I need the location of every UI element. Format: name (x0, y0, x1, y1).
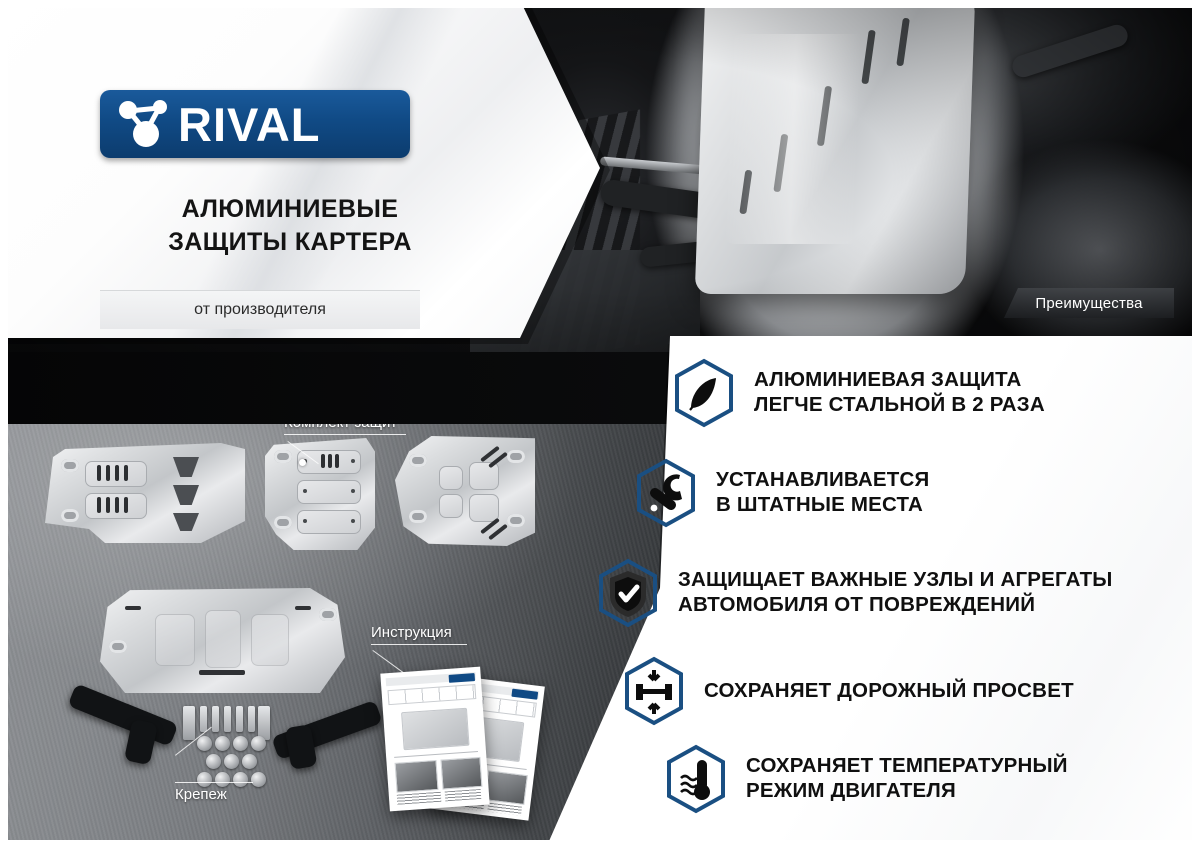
rival-logo[interactable]: RIVAL (100, 90, 410, 158)
feature-item-install[interactable]: УСТАНАВЛИВАЕТСЯ В ШТАТНЫЕ МЕСТА (634, 458, 1174, 528)
skid-plate-3 (395, 436, 535, 546)
washer (197, 736, 212, 751)
washer (251, 736, 266, 751)
callout-instruction: Инструкция (371, 624, 467, 645)
feature-label: СОХРАНЯЕТ ДОРОЖНЫЙ ПРОСВЕТ (704, 679, 1074, 704)
logo-wordmark: RIVAL (178, 101, 321, 148)
bolt (248, 706, 255, 732)
ground-clearance-icon (622, 656, 686, 726)
bolt (236, 706, 243, 732)
shield-check-icon (596, 558, 660, 628)
feature-label: ЗАЩИЩАЕТ ВАЖНЫЕ УЗЛЫ И АГРЕГАТЫ АВТОМОБИ… (678, 568, 1113, 617)
feature-list: АЛЮМИНИЕВАЯ ЗАЩИТА ЛЕГЧЕ СТАЛЬНОЙ В 2 РА… (536, 336, 1200, 848)
tagline-bar: от производителя (100, 290, 420, 329)
washer (251, 772, 266, 787)
instruction-sheet-front (380, 667, 489, 812)
thermometer-icon (664, 744, 728, 814)
feature-label: АЛЮМИНИЕВАЯ ЗАЩИТА ЛЕГЧЕ СТАЛЬНОЙ В 2 РА… (754, 368, 1045, 417)
washer (215, 736, 230, 751)
feature-item-temperature[interactable]: СОХРАНЯЕТ ТЕМПЕРАТУРНЫЙ РЕЖИМ ДВИГАТЕЛЯ (664, 744, 1184, 814)
callout-instruction-label: Инструкция (371, 624, 452, 641)
bolt (200, 706, 207, 732)
feature-item-clearance[interactable]: СОХРАНЯЕТ ДОРОЖНЫЙ ПРОСВЕТ (622, 656, 1182, 726)
washer (224, 754, 239, 769)
advantages-tab-label: Преимущества (1035, 295, 1142, 312)
feature-label: СОХРАНЯЕТ ТЕМПЕРАТУРНЫЙ РЕЖИМ ДВИГАТЕЛЯ (746, 754, 1068, 803)
skid-plate-main (95, 588, 345, 693)
callout-kit-dot (299, 459, 306, 466)
feature-label: УСТАНАВЛИВАЕТСЯ В ШТАТНЫЕ МЕСТА (716, 468, 929, 517)
leaf-icon (672, 358, 736, 428)
washer (242, 754, 257, 769)
skid-plate-2 (265, 438, 375, 550)
advantages-tab[interactable]: Преимущества (1004, 288, 1174, 318)
bolt (212, 706, 219, 732)
washer (233, 736, 248, 751)
molecule-icon (112, 96, 176, 152)
rival-promo-banner: RIVAL АЛЮМИНИЕВЫЕ ЗАЩИТЫ КАРТЕРА от прои… (0, 0, 1200, 848)
fastener-strip-right (258, 706, 270, 740)
page-title: АЛЮМИНИЕВЫЕ ЗАЩИТЫ КАРТЕРА (100, 193, 480, 259)
wrench-icon (634, 458, 698, 528)
feature-item-weight[interactable]: АЛЮМИНИЕВАЯ ЗАЩИТА ЛЕГЧЕ СТАЛЬНОЙ В 2 РА… (672, 358, 1182, 428)
feature-item-protection[interactable]: ЗАЩИЩАЕТ ВАЖНЫЕ УЗЛЫ И АГРЕГАТЫ АВТОМОБИ… (596, 558, 1176, 628)
tagline-text: от производителя (194, 301, 326, 319)
title-line-2: ЗАЩИТЫ КАРТЕРА (100, 226, 480, 259)
washer (206, 754, 221, 769)
fastener-strip-left (183, 706, 195, 740)
callout-fasteners: Крепеж (175, 782, 253, 803)
callout-fasteners-label: Крепеж (175, 786, 227, 803)
title-line-1: АЛЮМИНИЕВЫЕ (100, 193, 480, 226)
bolt (224, 706, 231, 732)
